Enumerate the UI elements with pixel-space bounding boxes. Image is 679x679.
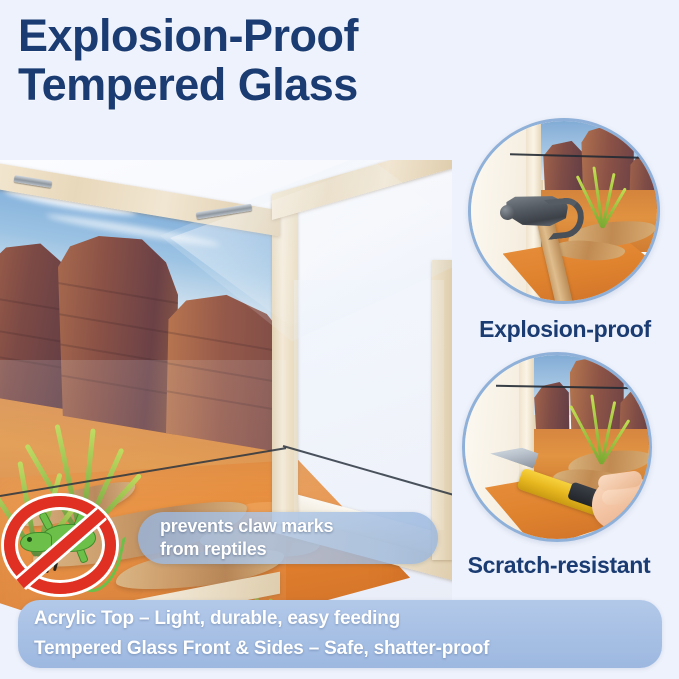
- marketing-image-canvas: Explosion-Proof Tempered Glass: [0, 0, 679, 679]
- bottom-feature-banner: Acrylic Top – Light, durable, easy feedi…: [18, 600, 662, 668]
- claw-pill-line-1: prevents claw marks: [160, 515, 438, 538]
- callout-explosion-proof: Explosion-proof: [468, 118, 662, 344]
- no-reptile-badge: [4, 496, 124, 600]
- callout-label-explosion-proof: Explosion-proof: [468, 316, 662, 343]
- headline-line-2: Tempered Glass: [18, 61, 558, 110]
- bottom-banner-line-1: Acrylic Top – Light, durable, easy feedi…: [34, 604, 662, 634]
- scratch-resistant-circle-photo: [462, 352, 652, 542]
- page-title: Explosion-Proof Tempered Glass: [18, 12, 558, 109]
- claw-pill-line-2: from reptiles: [160, 538, 438, 561]
- claw-marks-callout-pill: prevents claw marks from reptiles: [138, 512, 438, 564]
- utility-knife-icon: [496, 451, 629, 538]
- callout-label-scratch-resistant: Scratch-resistant: [462, 552, 656, 579]
- mural-butte: [0, 235, 70, 410]
- hammer-icon: [506, 196, 617, 304]
- headline-line-1: Explosion-Proof: [18, 10, 358, 61]
- mural-butte: [58, 225, 178, 435]
- explosion-proof-circle-photo: [468, 118, 660, 304]
- callout-scratch-resistant: Scratch-resistant: [462, 352, 656, 578]
- bottom-banner-line-2: Tempered Glass Front & Sides – Safe, sha…: [34, 634, 662, 664]
